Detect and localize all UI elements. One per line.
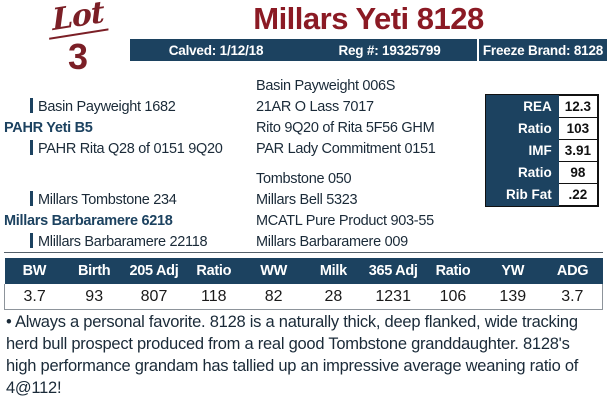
column-header-ww-ratio: Ratio [184, 258, 244, 284]
carcass-label-rea: REA [487, 96, 559, 118]
column-header-adg: ADG [543, 258, 603, 284]
column-header-milk: Milk [303, 258, 363, 284]
performance-table-head: BW Birth 205 Adj Ratio WW Milk 365 Adj R… [5, 258, 603, 284]
value-yw-ratio: 106 [423, 284, 483, 310]
pedigree-sire-gp-2: 21AR O Lass 7017 [256, 100, 374, 115]
pedigree-dam-gp-2: Millars Bell 5323 [256, 193, 357, 208]
value-205-adj: 807 [124, 284, 184, 310]
registration-number: Reg #: 19325799 [302, 43, 477, 58]
value-ww-ratio: 118 [184, 284, 244, 310]
lot-badge: Lot 3 [28, 2, 128, 75]
pedigree-sire-gp-4: PAR Lady Commitment 0151 [256, 142, 436, 157]
pedigree-tick-sire-sire [30, 98, 33, 113]
value-ww: 82 [244, 284, 304, 310]
carcass-value-rib-fat: .22 [558, 184, 597, 206]
column-header-205-adj: 205 Adj [124, 258, 184, 284]
freeze-brand: Freeze Brand: 8128 [479, 43, 607, 58]
value-adg: 3.7 [543, 284, 603, 310]
carcass-value-rea: 12.3 [558, 96, 597, 118]
value-birth: 93 [64, 284, 124, 310]
carcass-value-imf-ratio: 98 [558, 162, 597, 184]
pedigree-sire-dam: PAHR Rita Q28 of 0151 9Q20 [38, 142, 223, 157]
section-divider [4, 252, 603, 253]
pedigree-dam-sire: Millars Tombstone 234 [38, 193, 177, 208]
column-header-365-adj: 365 Adj [363, 258, 423, 284]
table-row: IMF 3.91 [487, 140, 598, 162]
column-header-bw: BW [5, 258, 65, 284]
carcass-value-imf: 3.91 [558, 140, 597, 162]
carcass-table-body: REA 12.3 Ratio 103 IMF 3.91 Ratio 98 Rib… [487, 96, 598, 206]
table-row: Ratio 98 [487, 162, 598, 184]
lot-catalog-card: Lot 3 Millars Yeti 8128 Calved: 1/12/18 … [0, 0, 607, 404]
page-title: Millars Yeti 8128 [130, 3, 607, 36]
pedigree-dam: Millars Barbaramere 6218 [4, 214, 173, 229]
pedigree-sire: PAHR Yeti B5 [4, 121, 93, 136]
table-row: REA 12.3 [487, 96, 598, 118]
value-365-adj: 1231 [363, 284, 423, 310]
value-milk: 28 [303, 284, 363, 310]
calved-date: Calved: 1/12/18 [130, 43, 302, 58]
pedigree-dam-gp-1: Tombstone 050 [256, 172, 351, 187]
column-header-yw: YW [483, 258, 543, 284]
performance-table-body: 3.7 93 807 118 82 28 1231 106 139 3.7 [5, 284, 603, 310]
lot-word: Lot [48, 0, 109, 40]
carcass-data-box: REA 12.3 Ratio 103 IMF 3.91 Ratio 98 Rib… [485, 94, 599, 207]
lot-number: 3 [28, 39, 128, 75]
pedigree-sire-gp-1: Basin Payweight 006S [256, 79, 395, 94]
carcass-label-imf: IMF [487, 140, 559, 162]
pedigree-tick-dam-sire [30, 191, 33, 206]
table-row: Ratio 103 [487, 118, 598, 140]
pedigree-dam-dam: Mlillars Barbaramere 22118 [38, 235, 207, 250]
value-yw: 139 [483, 284, 543, 310]
header-info-bar: Calved: 1/12/18 Reg #: 19325799 Freeze B… [130, 39, 607, 61]
column-header-yw-ratio: Ratio [423, 258, 483, 284]
pedigree-sire-sire: Basin Payweight 1682 [38, 100, 176, 115]
table-row: 3.7 93 807 118 82 28 1231 106 139 3.7 [5, 284, 603, 310]
lot-description: • Always a personal favorite. 8128 is a … [6, 312, 598, 400]
pedigree-dam-gp-4: Millars Barbaramere 009 [256, 235, 408, 250]
carcass-table: REA 12.3 Ratio 103 IMF 3.91 Ratio 98 Rib… [486, 95, 598, 206]
carcass-label-rea-ratio: Ratio [487, 118, 559, 140]
pedigree-sire-gp-3: Rito 9Q20 of Rita 5F56 GHM [256, 121, 434, 136]
column-header-ww: WW [244, 258, 304, 284]
carcass-label-imf-ratio: Ratio [487, 162, 559, 184]
value-bw: 3.7 [5, 284, 65, 310]
performance-table: BW Birth 205 Adj Ratio WW Milk 365 Adj R… [4, 258, 603, 310]
table-row: Rib Fat .22 [487, 184, 598, 206]
column-header-birth: Birth [64, 258, 124, 284]
carcass-value-rea-ratio: 103 [558, 118, 597, 140]
pedigree-tick-sire-dam [30, 140, 33, 155]
table-header-row: BW Birth 205 Adj Ratio WW Milk 365 Adj R… [5, 258, 603, 284]
pedigree-dam-gp-3: MCATL Pure Product 903-55 [256, 214, 434, 229]
carcass-label-rib-fat: Rib Fat [487, 184, 559, 206]
performance-table-wrapper: BW Birth 205 Adj Ratio WW Milk 365 Adj R… [4, 258, 603, 310]
pedigree-tick-dam-dam [30, 233, 33, 248]
